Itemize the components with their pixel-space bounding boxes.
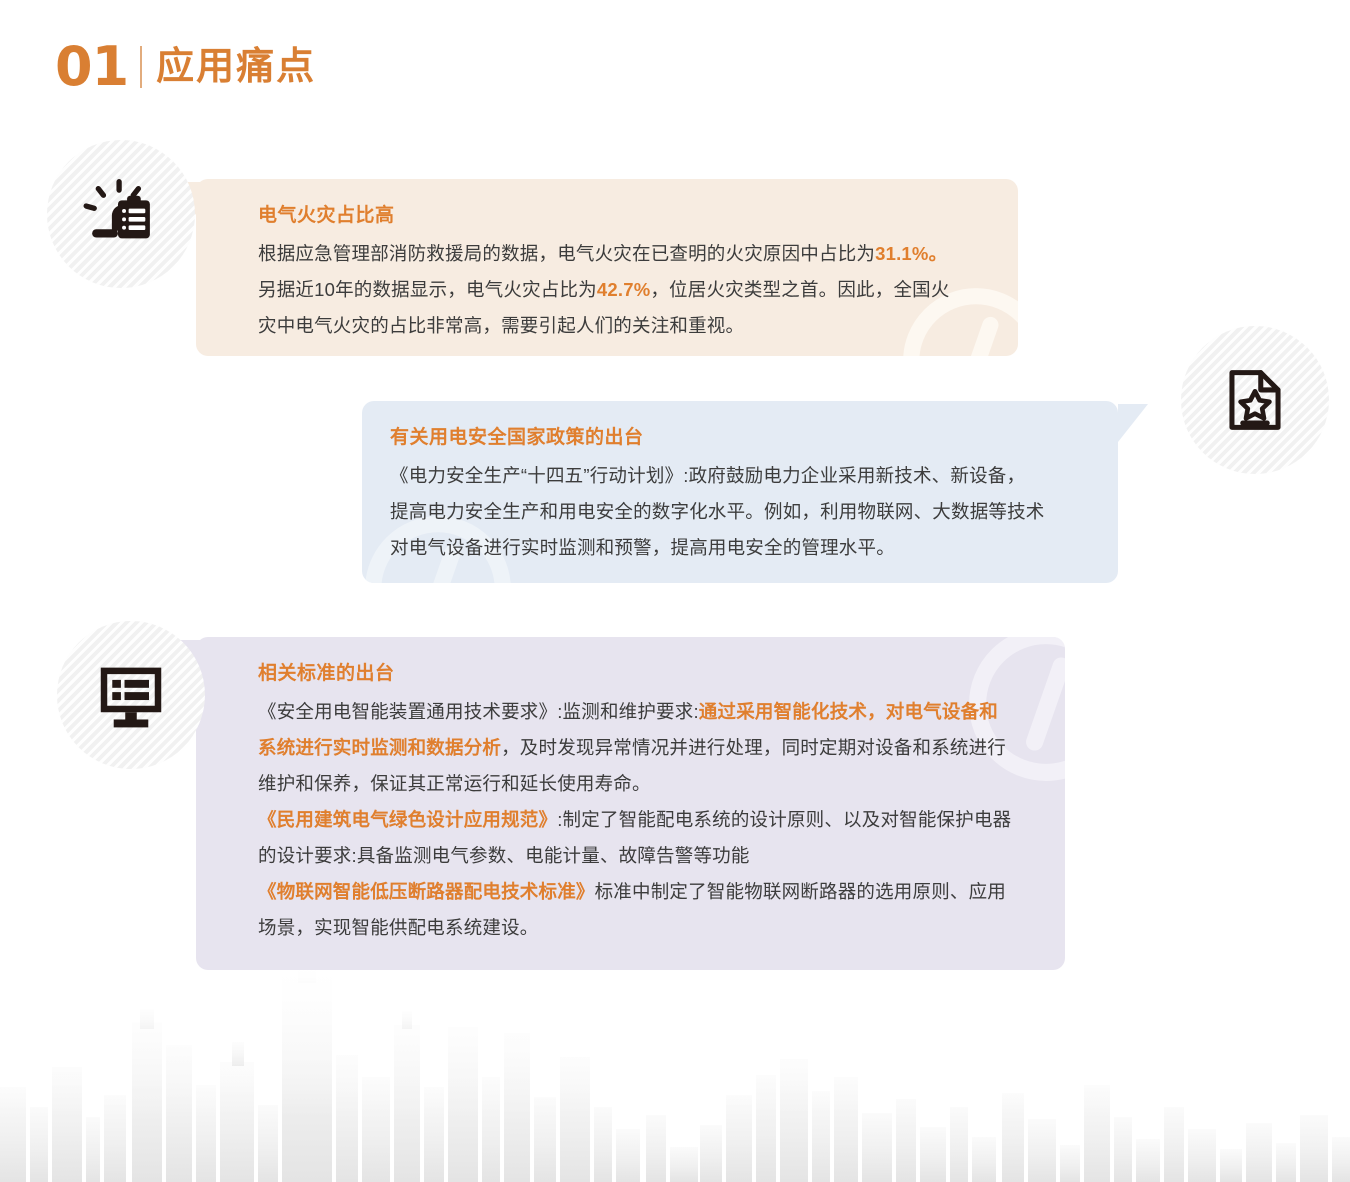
card-3-body: 《安全用电智能装置通用技术要求》:监测和维护要求:通过采用智能化技术，对电气设备… (258, 694, 1035, 946)
card-1-text-c: ，位居火灾类型之首。因此，全国火 (650, 279, 949, 300)
card-1-text-a: 根据应急管理部消防救援局的数据，电气火灾在已查明的火灾原因中占比为 (258, 243, 875, 264)
card-3-text-c: :制定了智能配电系统的设计原则、以及对智能保护电器 (557, 809, 1011, 830)
card-related-standards: 相关标准的出台 《安全用电智能装置通用技术要求》:监测和维护要求:通过采用智能化… (196, 637, 1065, 970)
card-1-line-2: 另据近10年的数据显示，电气火灾占比为42.7%，位居火灾类型之首。因此，全国火 (258, 272, 988, 308)
header-divider (140, 46, 142, 88)
section-number: 01 (55, 40, 128, 94)
card-3-std-2-name: 《民用建筑电气绿色设计应用规范》 (258, 809, 557, 830)
card-3-highlight-a: 通过采用智能化技术，对电气设备和 (699, 701, 998, 722)
card-3-text-d: 标准中制定了智能物联网断路器的选用原则、应用 (595, 881, 1006, 902)
card-2-line-2: 提高电力安全生产和用电安全的数字化水平。例如，利用物联网、大数据等技术 (390, 494, 1088, 530)
card-2-pointer (1118, 404, 1148, 442)
cityscape-backdrop (0, 967, 1350, 1182)
icon-badge-alarm (47, 140, 195, 288)
card-2-line-3: 对电气设备进行实时监测和预警，提高用电安全的管理水平。 (390, 530, 1088, 566)
card-1-line-1: 根据应急管理部消防救援局的数据，电气火灾在已查明的火灾原因中占比为31.1%。 (258, 236, 988, 272)
icon-badge-certificate (1181, 326, 1329, 474)
icon-badge-monitor (57, 621, 205, 769)
card-national-policy: 有关用电安全国家政策的出台 《电力安全生产“十四五”行动计划》:政府鼓励电力企业… (362, 401, 1118, 583)
certificate-document-icon (1219, 364, 1291, 436)
card-1-text-b: 另据近10年的数据显示，电气火灾占比为 (258, 279, 597, 300)
card-3-para-2-line-2: 的设计要求:具备监测电气参数、电能计量、故障告警等功能 (258, 838, 1035, 874)
card-2-line-1: 《电力安全生产“十四五”行动计划》:政府鼓励电力企业采用新技术、新设备， (390, 458, 1088, 494)
card-3-para-3-line-1: 《物联网智能低压断路器配电技术标准》标准中制定了智能物联网断路器的选用原则、应用 (258, 874, 1035, 910)
card-1-stat-1: 31.1%。 (875, 243, 947, 264)
monitor-display-icon (95, 659, 167, 731)
card-2-body: 《电力安全生产“十四五”行动计划》:政府鼓励电力企业采用新技术、新设备， 提高电… (390, 458, 1088, 566)
card-2-title: 有关用电安全国家政策的出台 (390, 425, 1088, 452)
card-3-para-2-line-1: 《民用建筑电气绿色设计应用规范》:制定了智能配电系统的设计原则、以及对智能保护电… (258, 802, 1035, 838)
card-3-text-b: ，及时发现异常情况并进行处理，同时定期对设备和系统进行 (501, 737, 1006, 758)
card-3-para-1-line-3: 维护和保养，保证其正常运行和延长使用寿命。 (258, 766, 1035, 802)
card-3-std-1-name: 《安全用电智能装置通用技术要求》:监测和维护要求: (258, 701, 699, 722)
card-1-stat-2: 42.7% (597, 279, 650, 300)
page-title: 应用痛点 (156, 48, 316, 86)
card-3-title: 相关标准的出台 (258, 661, 1035, 688)
card-1-line-3: 灾中电气火灾的占比非常高，需要引起人们的关注和重视。 (258, 308, 988, 344)
page-header: 01 应用痛点 (55, 36, 316, 98)
card-3-para-3-line-2: 场景，实现智能供配电系统建设。 (258, 910, 1035, 946)
card-electrical-fire-ratio: 电气火灾占比高 根据应急管理部消防救援局的数据，电气火灾在已查明的火灾原因中占比… (196, 179, 1018, 356)
alarm-clipboard-icon (83, 176, 159, 252)
card-3-para-1-line-1: 《安全用电智能装置通用技术要求》:监测和维护要求:通过采用智能化技术，对电气设备… (258, 694, 1035, 730)
card-3-para-1-line-2: 系统进行实时监测和数据分析，及时发现异常情况并进行处理，同时定期对设备和系统进行 (258, 730, 1035, 766)
card-3-std-3-name: 《物联网智能低压断路器配电技术标准》 (258, 881, 595, 902)
card-1-body: 根据应急管理部消防救援局的数据，电气火灾在已查明的火灾原因中占比为31.1%。 … (258, 236, 988, 344)
card-1-title: 电气火灾占比高 (258, 203, 988, 230)
card-3-highlight-b: 系统进行实时监测和数据分析 (258, 737, 501, 758)
